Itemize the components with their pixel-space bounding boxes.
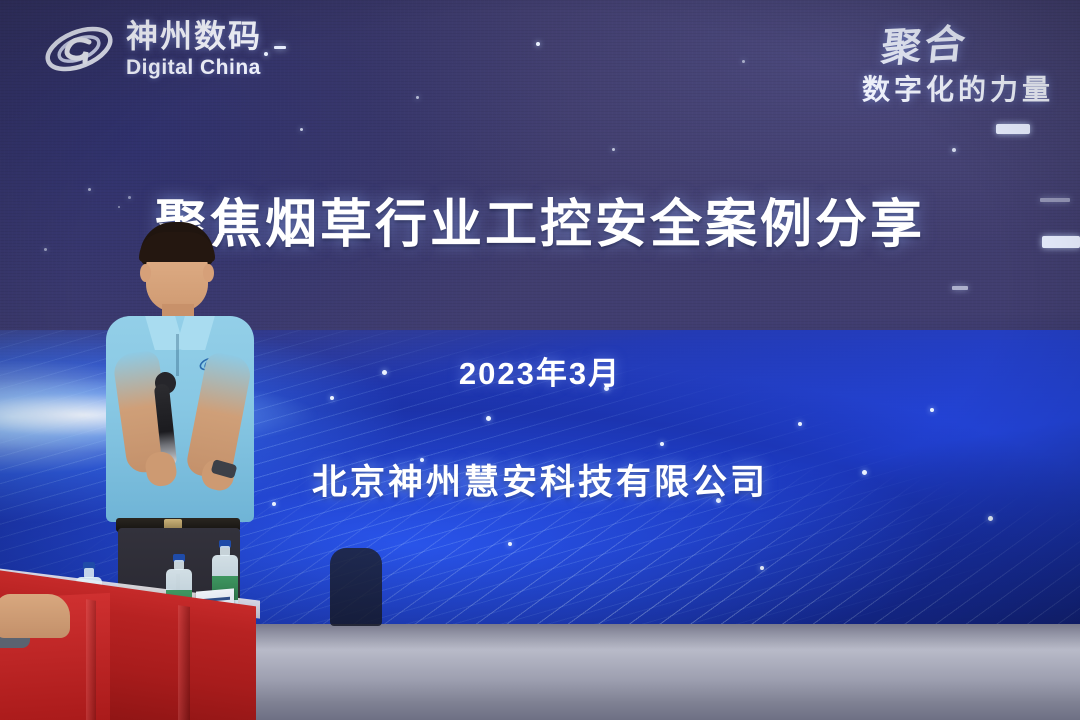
event-slogan: 聚合 数字化的力量 bbox=[862, 14, 1054, 108]
stage-photo: 神州数码 Digital China 聚合 数字化的力量 聚焦烟草行业工控安全案… bbox=[0, 0, 1080, 720]
logo-english-name: Digital China bbox=[126, 57, 262, 78]
drape-fold bbox=[86, 599, 96, 720]
digital-china-swirl-icon bbox=[42, 16, 116, 82]
digital-china-logo: 神州数码 Digital China bbox=[42, 16, 262, 82]
seated-attendee-hands bbox=[0, 594, 70, 638]
drape-fold bbox=[178, 605, 190, 720]
slogan-subtitle: 数字化的力量 bbox=[862, 68, 1054, 108]
presenter-ear-right bbox=[203, 264, 214, 282]
slogan-calligraphy: 聚合 bbox=[859, 11, 972, 74]
background-attendee bbox=[330, 548, 382, 626]
logo-chinese-name: 神州数码 bbox=[126, 20, 262, 52]
presenter-shirt-placket bbox=[176, 334, 179, 376]
presenter-ear-left bbox=[140, 264, 151, 282]
presenter-hair-front bbox=[139, 232, 215, 262]
